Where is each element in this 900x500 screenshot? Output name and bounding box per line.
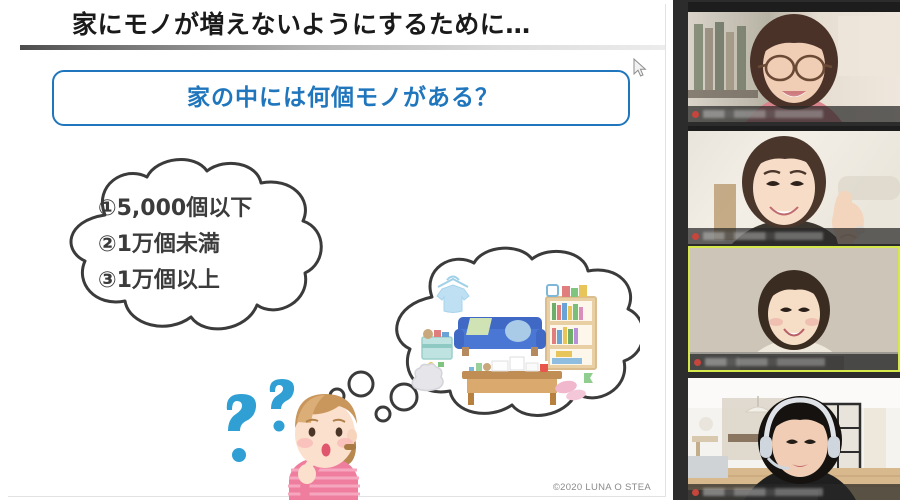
question-mark-icon xyxy=(227,379,294,462)
participant-name-bar-2 xyxy=(688,228,900,244)
participant-name-2 xyxy=(703,232,823,240)
mouse-pointer-icon xyxy=(633,58,647,78)
participant-tile-2[interactable] xyxy=(688,126,900,244)
answer-option-2: ②1万個未満 xyxy=(98,227,338,263)
slide-title: 家にモノが増えないようにするために… xyxy=(72,8,632,42)
shared-slide: 家にモノが増えないようにするために… 家の中には何個モノがある？ ①5,000個… xyxy=(0,0,673,500)
answer-option-3: ③1万個以上 xyxy=(98,263,338,299)
participant-video-rail xyxy=(673,0,900,500)
question-box: 家の中には何個モノがある？ xyxy=(52,70,630,126)
thinking-girl-illustration xyxy=(215,370,385,500)
participant-name-bar-4 xyxy=(688,484,900,500)
copyright-text: ©2020 LUNA O STEA xyxy=(553,482,651,493)
thought-cloud xyxy=(370,245,640,435)
mic-muted-icon xyxy=(692,111,699,118)
mic-muted-icon xyxy=(694,359,701,366)
participant-name-bar-1 xyxy=(688,106,900,122)
thought-cloud-illustration xyxy=(370,245,640,435)
participant-video-4 xyxy=(688,378,900,500)
participant-name-bar-3 xyxy=(690,354,898,370)
thinking-character xyxy=(215,370,385,500)
participant-name-1 xyxy=(703,110,823,118)
bookshelf-icon xyxy=(546,285,596,369)
participant-name-4 xyxy=(703,488,823,496)
answer-cloud: ①5,000個以下 ②1万個未満 ③1万個以上 xyxy=(55,155,355,345)
participant-name-3 xyxy=(705,358,825,366)
participant-video-2 xyxy=(688,126,900,244)
participant-tile-1[interactable] xyxy=(688,2,900,122)
title-divider xyxy=(20,45,665,50)
participant-video-1 xyxy=(688,2,900,122)
mic-muted-icon xyxy=(692,489,699,496)
screen-share-window: 家にモノが増えないようにするために… 家の中には何個モノがある？ ①5,000個… xyxy=(0,0,900,500)
participant-tile-3[interactable] xyxy=(688,246,900,372)
question-box-text: 家の中には何個モノがある？ xyxy=(54,72,632,124)
participant-tile-4[interactable] xyxy=(688,378,900,500)
answer-option-1: ①5,000個以下 xyxy=(98,191,338,227)
mic-muted-icon xyxy=(692,233,699,240)
participant-video-3 xyxy=(690,248,898,370)
answer-list: ①5,000個以下 ②1万個未満 ③1万個以上 xyxy=(98,191,338,299)
